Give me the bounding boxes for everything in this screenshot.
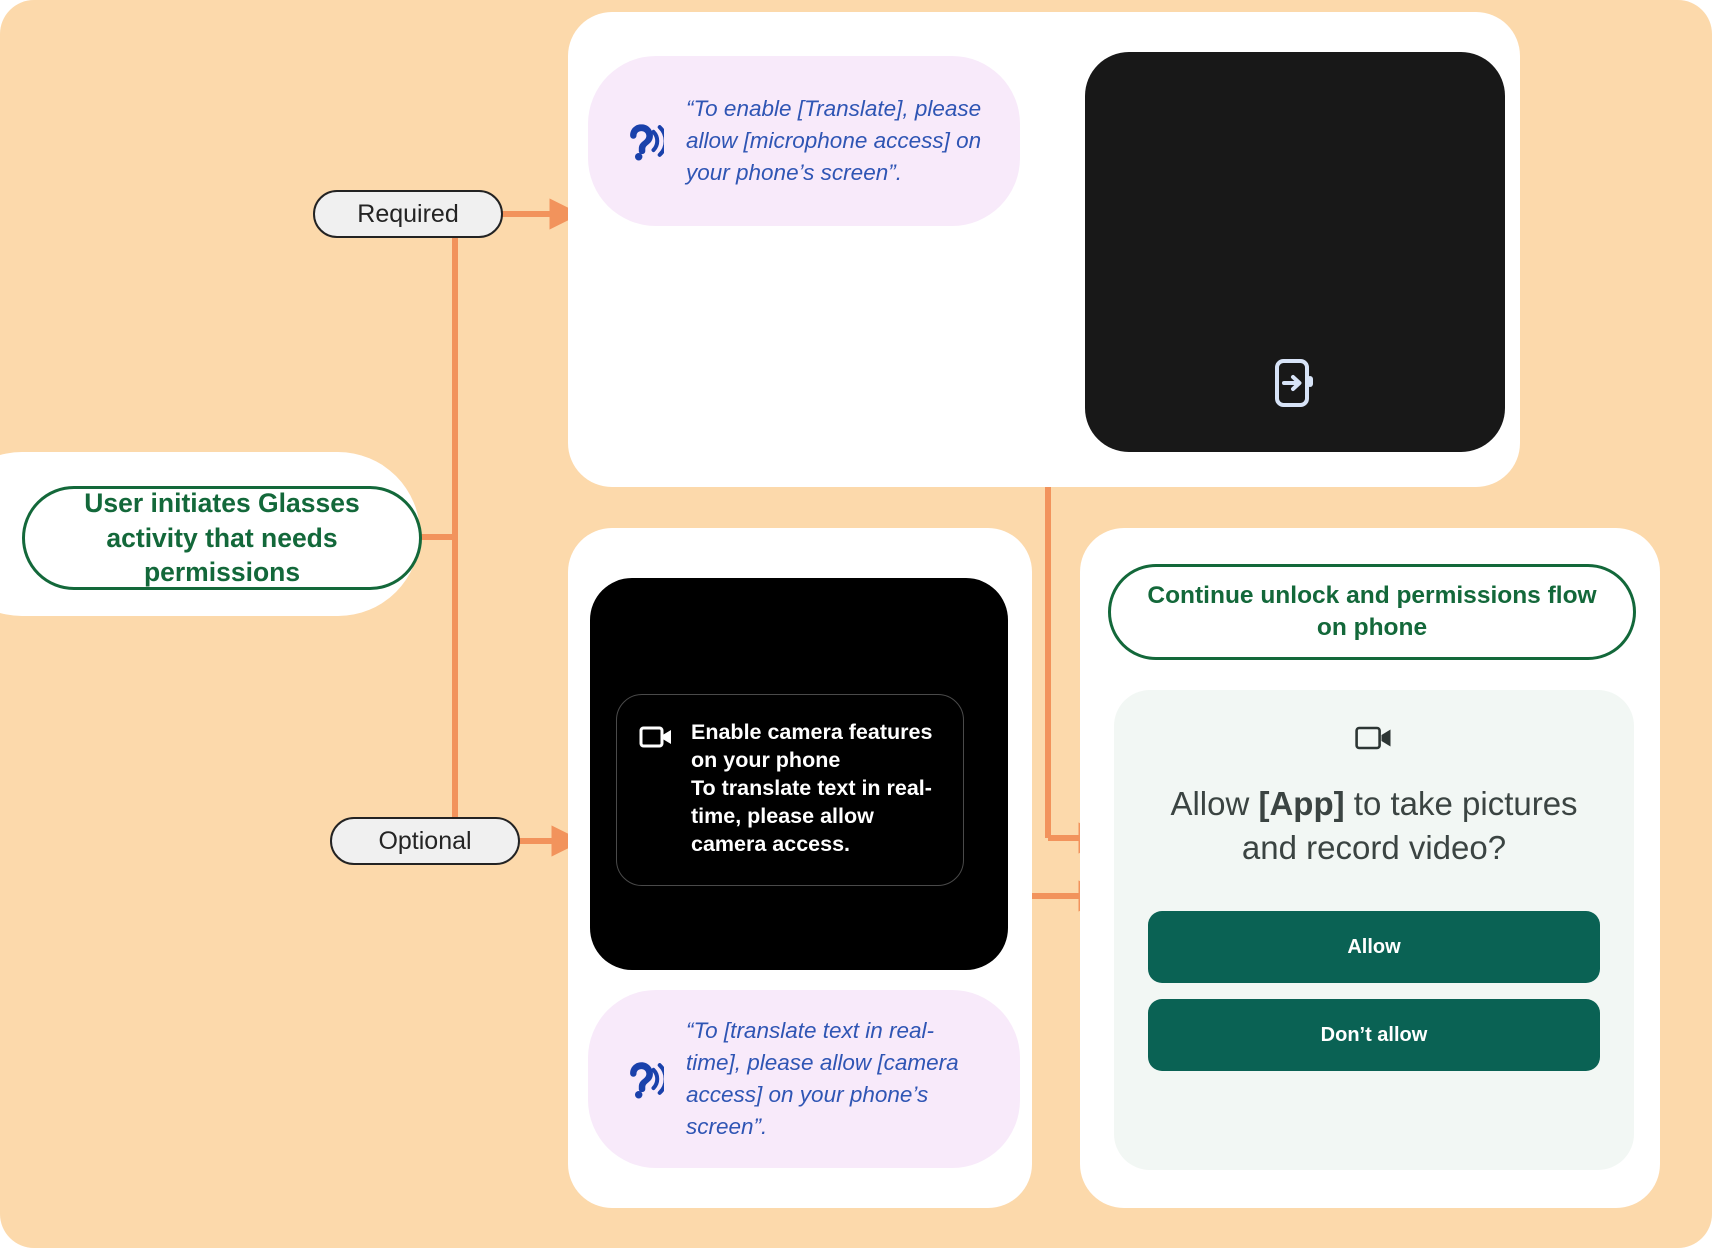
speech-bubble-microphone: “To enable [Translate], please allow [mi… xyxy=(588,56,1020,226)
glasses-toast-body: To translate text in real-time, please a… xyxy=(691,775,939,858)
glasses-display-bottom: Enable camera features on your phone To … xyxy=(590,578,1008,970)
permission-question-app-token: [App] xyxy=(1258,785,1344,822)
diagram-canvas: User initiates Glasses activity that nee… xyxy=(0,0,1712,1248)
phone-with-arrow-icon xyxy=(1274,358,1316,408)
glasses-toast-copy: Enable camera features on your phone To … xyxy=(691,719,939,859)
video-camera-icon xyxy=(1355,724,1393,752)
node-user-initiates-activity[interactable]: User initiates Glasses activity that nee… xyxy=(22,486,422,590)
branch-label-required[interactable]: Required xyxy=(313,190,503,238)
permission-dialog: Allow [App] to take pictures and record … xyxy=(1114,690,1634,1170)
allow-button[interactable]: Allow xyxy=(1148,911,1600,983)
speech-bubble-microphone-text: “To enable [Translate], please allow [mi… xyxy=(686,93,986,189)
branch-label-optional[interactable]: Optional xyxy=(330,817,520,865)
node-continue-unlock-flow[interactable]: Continue unlock and permissions flow on … xyxy=(1108,564,1636,660)
speech-bubble-camera: “To [translate text in real-time], pleas… xyxy=(588,990,1020,1168)
glasses-toast-title: Enable camera features on your phone xyxy=(691,720,932,772)
glasses-display-top xyxy=(1085,52,1505,452)
speech-bubble-camera-text: “To [translate text in real-time], pleas… xyxy=(686,1015,986,1143)
ear-listening-icon xyxy=(622,1057,664,1101)
video-camera-icon xyxy=(639,724,673,750)
permission-question-prefix: Allow xyxy=(1170,785,1258,822)
dont-allow-button[interactable]: Don’t allow xyxy=(1148,999,1600,1071)
glasses-camera-toast: Enable camera features on your phone To … xyxy=(616,694,964,886)
permission-dialog-question: Allow [App] to take pictures and record … xyxy=(1114,782,1634,869)
ear-listening-icon xyxy=(622,119,664,163)
